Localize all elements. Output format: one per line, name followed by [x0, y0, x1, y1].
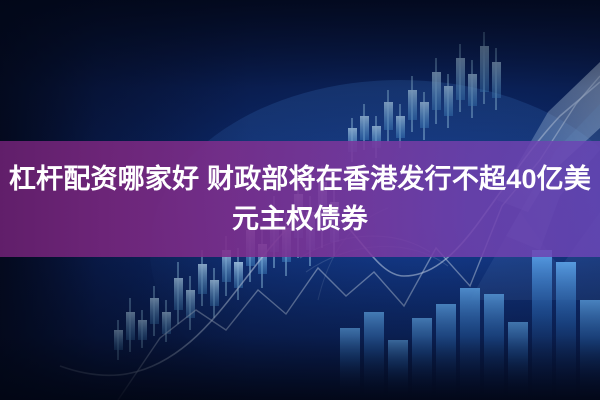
news-banner-image: 杠杆配资哪家好 财政部将在香港发行不超40亿美 元主权债券 [0, 0, 600, 400]
headline-line-1: 杠杆配资哪家好 财政部将在香港发行不超40亿美 [9, 159, 591, 199]
headline-banner: 杠杆配资哪家好 财政部将在香港发行不超40亿美 元主权债券 [0, 141, 600, 257]
headline-line-2: 元主权债券 [232, 199, 368, 239]
